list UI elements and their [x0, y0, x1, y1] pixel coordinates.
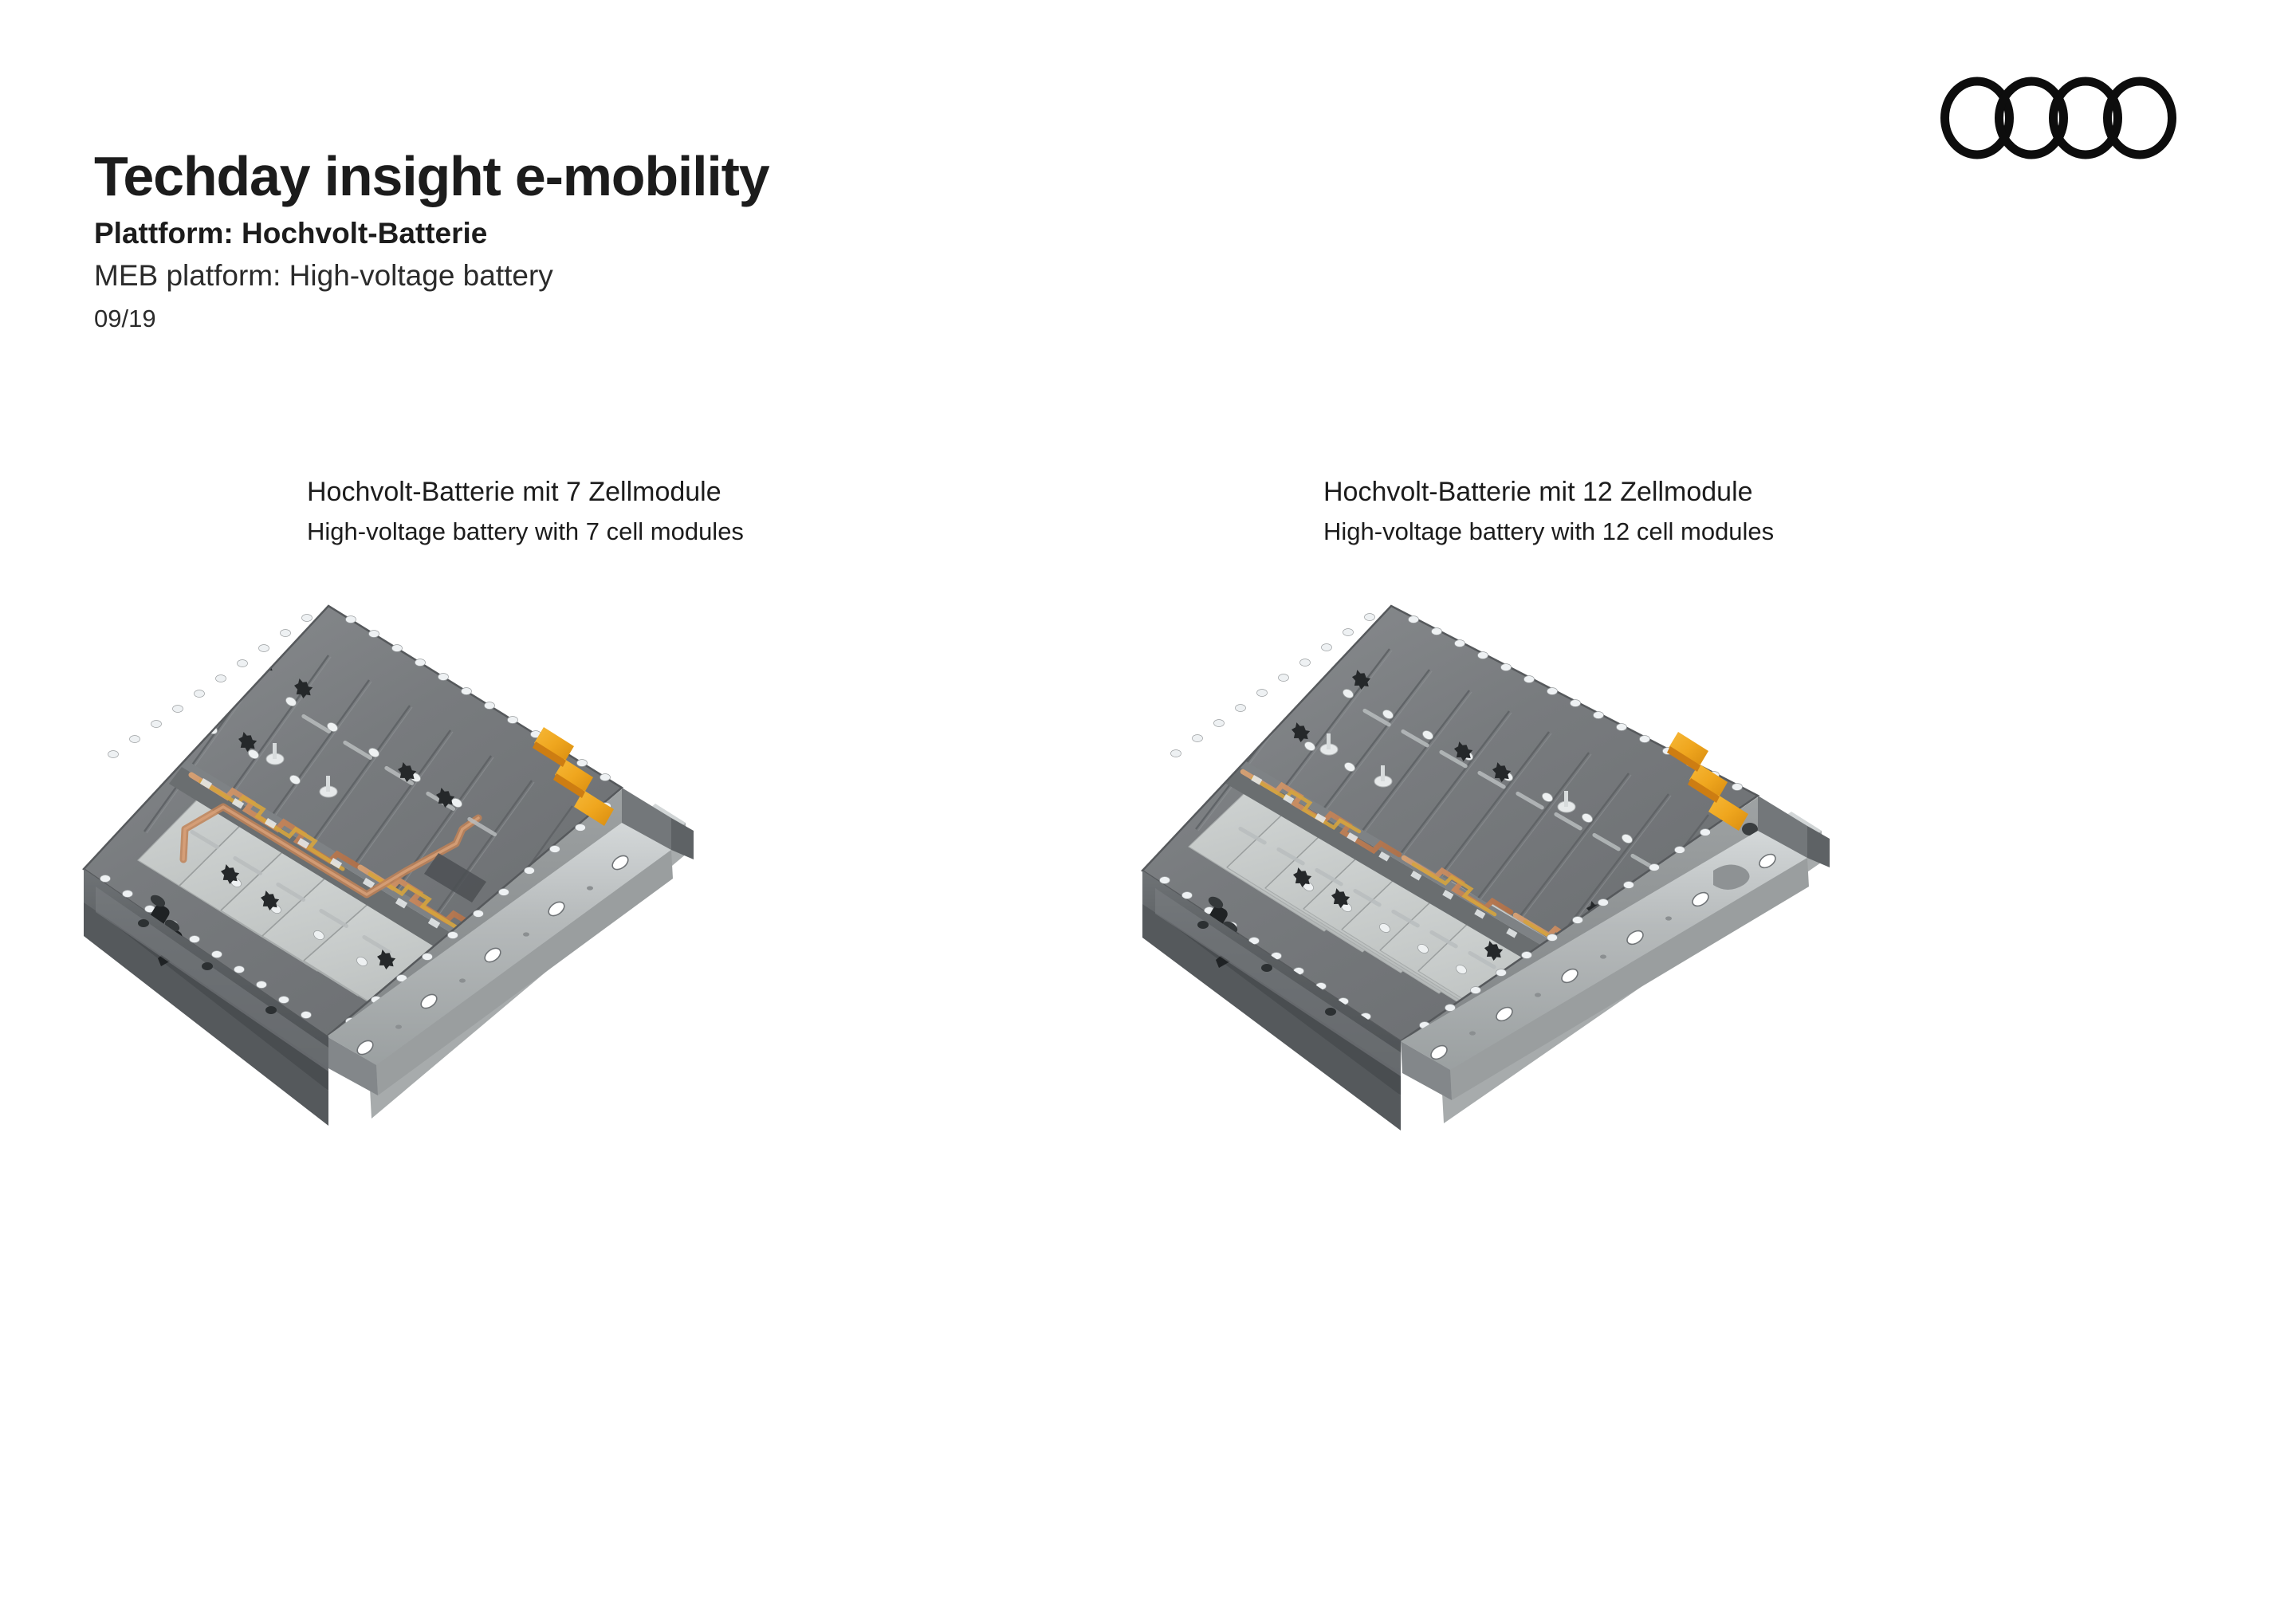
header-block: Techday insight e-mobility Plattform: Ho…	[94, 148, 769, 331]
slide-canvas: Techday insight e-mobility Plattform: Ho…	[0, 0, 2296, 1624]
caption-right-german: Hochvolt-Batterie mit 12 Zellmodule	[1323, 478, 1774, 505]
date-label: 09/19	[94, 306, 769, 331]
subtitle-german: Plattform: Hochvolt-Batterie	[94, 218, 769, 248]
battery-render-12-modules	[1120, 590, 2180, 1260]
page-title: Techday insight e-mobility	[94, 148, 769, 204]
caption-right-english: High-voltage battery with 12 cell module…	[1323, 519, 1774, 544]
caption-left-german: Hochvolt-Batterie mit 7 Zellmodule	[307, 478, 744, 505]
caption-left-english: High-voltage battery with 7 cell modules	[307, 519, 744, 544]
caption-left: Hochvolt-Batterie mit 7 Zellmodule High-…	[307, 478, 744, 544]
subtitle-english: MEB platform: High-voltage battery	[94, 261, 769, 290]
caption-right: Hochvolt-Batterie mit 12 Zellmodule High…	[1323, 478, 1774, 544]
battery-render-7-modules	[64, 590, 1044, 1260]
audi-rings-icon	[1940, 77, 2204, 159]
